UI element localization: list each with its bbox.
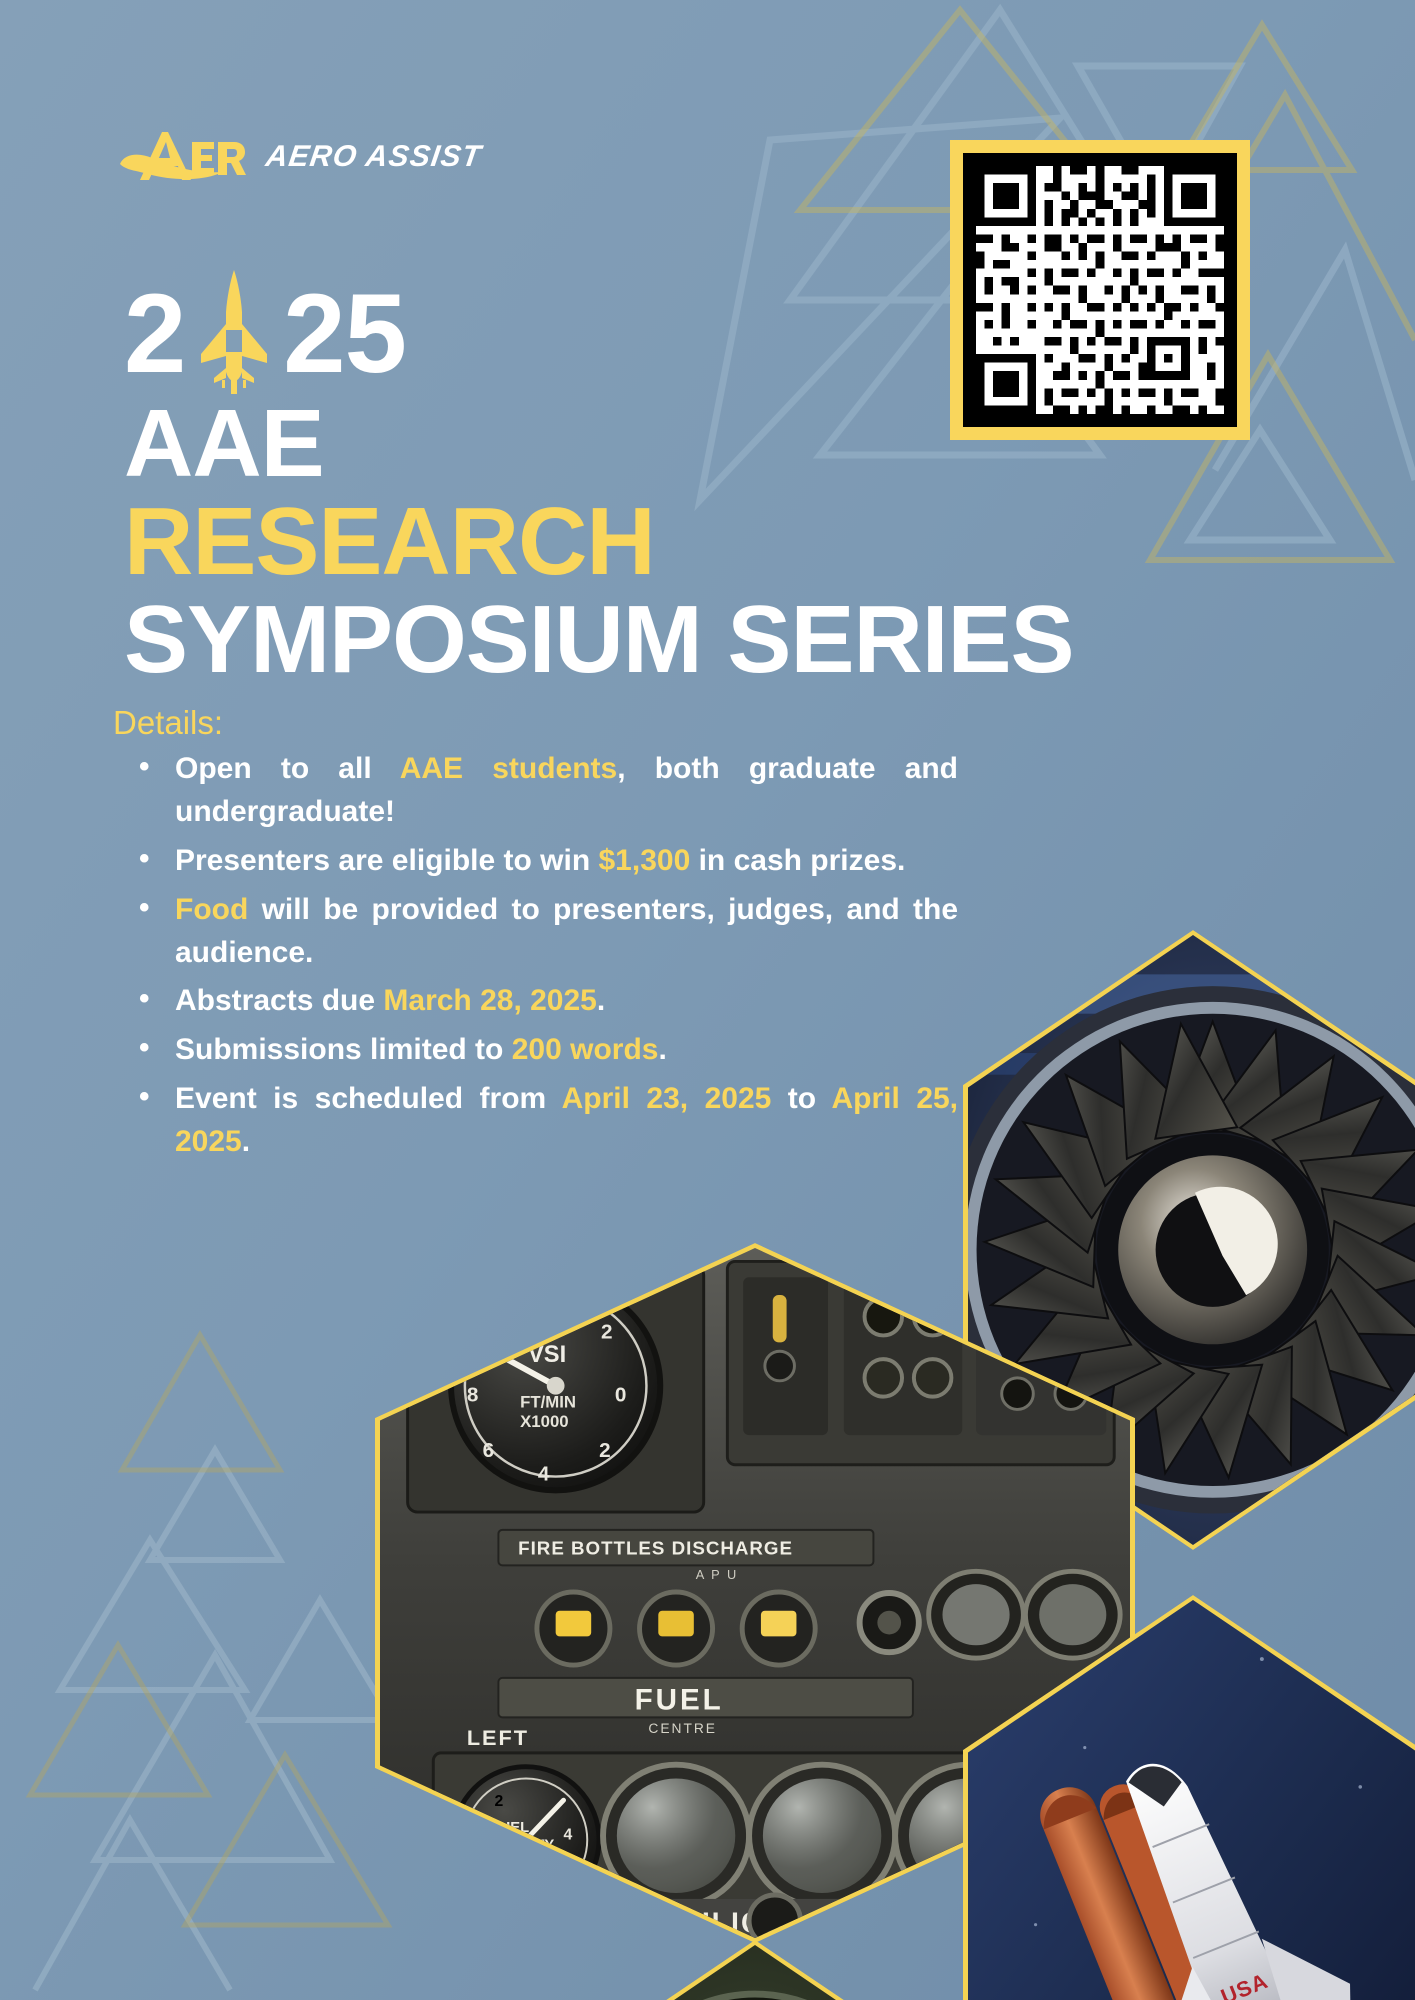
svg-text:QUANTITY: QUANTITY: [479, 1838, 555, 1854]
svg-text:X1000: X1000: [520, 1412, 568, 1431]
detail-text: .: [242, 1125, 250, 1158]
detail-bullet: Presenters are eligible to win $1,300 in…: [133, 840, 958, 883]
detail-highlight: March 28, 2025: [383, 984, 596, 1017]
svg-text:CENTRE: CENTRE: [648, 1720, 717, 1736]
svg-text:2: 2: [599, 1439, 611, 1462]
brand-logo-block: AERO ASSIST: [118, 128, 481, 186]
svg-text:2: 2: [494, 1793, 503, 1810]
detail-text: .: [658, 1033, 666, 1066]
svg-text:LEFT: LEFT: [467, 1725, 529, 1750]
svg-text:6: 6: [483, 1439, 495, 1462]
hex-photo-inner: 30 6 15 24: [560, 1945, 950, 2000]
details-bullet-list: Open to all AAE students, both graduate …: [133, 748, 958, 1170]
svg-text:A P U: A P U: [696, 1567, 738, 1582]
title-year-prefix: 2: [124, 286, 185, 382]
detail-text: in cash prizes.: [690, 844, 905, 877]
detail-highlight: AAE students: [400, 752, 618, 785]
title-line-research: RESEARCH: [124, 496, 1124, 588]
svg-text:FT/MIN: FT/MIN: [520, 1392, 576, 1411]
title-line-symposium: SYMPOSIUM SERIES: [124, 594, 1124, 686]
detail-bullet: Event is scheduled from April 23, 2025 t…: [133, 1078, 958, 1164]
svg-text:FIRE BOTTLES DISCHARGE: FIRE BOTTLES DISCHARGE: [518, 1538, 793, 1559]
detail-text: will be provided to presenters, judges, …: [175, 893, 958, 969]
svg-text:2: 2: [601, 1320, 613, 1343]
detail-text: Event is scheduled from: [175, 1082, 562, 1115]
detail-bullet: Abstracts due March 28, 2025.: [133, 980, 958, 1023]
detail-bullet: Open to all AAE students, both graduate …: [133, 748, 958, 834]
svg-text:4: 4: [540, 1291, 552, 1314]
detail-bullet: Submissions limited to 200 words.: [133, 1029, 958, 1072]
detail-highlight: 200 words: [512, 1033, 659, 1066]
svg-text:8: 8: [467, 1384, 479, 1407]
svg-text:0: 0: [615, 1384, 627, 1407]
detail-text: Presenters are eligible to win: [175, 844, 599, 877]
instrument-gauge-photo: 30 6 15 24: [555, 1940, 955, 2000]
svg-text:G X1000: G X1000: [483, 1869, 541, 1885]
detail-highlight: Food: [175, 893, 248, 926]
detail-bullet: Food will be provided to presenters, jud…: [133, 889, 958, 975]
details-heading: Details:: [113, 706, 223, 739]
detail-highlight: $1,300: [599, 844, 691, 877]
detail-text: Submissions limited to: [175, 1033, 512, 1066]
detail-text: .: [597, 984, 605, 1017]
poster-root: AERO ASSIST: [0, 0, 1415, 2000]
detail-text: Open to all: [175, 752, 400, 785]
svg-text:FUEL: FUEL: [635, 1683, 724, 1716]
detail-text: to: [771, 1082, 831, 1115]
fighter-jet-icon: [181, 254, 287, 382]
svg-text:4: 4: [538, 1463, 550, 1486]
detail-highlight: April 23, 2025: [562, 1082, 772, 1115]
aero-swoosh-logo-icon: [118, 128, 250, 186]
svg-text:4: 4: [564, 1827, 573, 1844]
svg-text:AUX PUMP OHEAT: AUX PUMP OHEAT: [814, 1918, 933, 1932]
title-year-suffix: 25: [283, 286, 406, 382]
brand-name: AERO ASSIST: [264, 142, 484, 172]
title-line-aae: AAE: [124, 398, 1124, 490]
title-year: 2: [124, 278, 1124, 382]
detail-text: Abstracts due: [175, 984, 383, 1017]
page-title: 2: [124, 278, 1124, 686]
svg-text:6: 6: [483, 1320, 495, 1343]
